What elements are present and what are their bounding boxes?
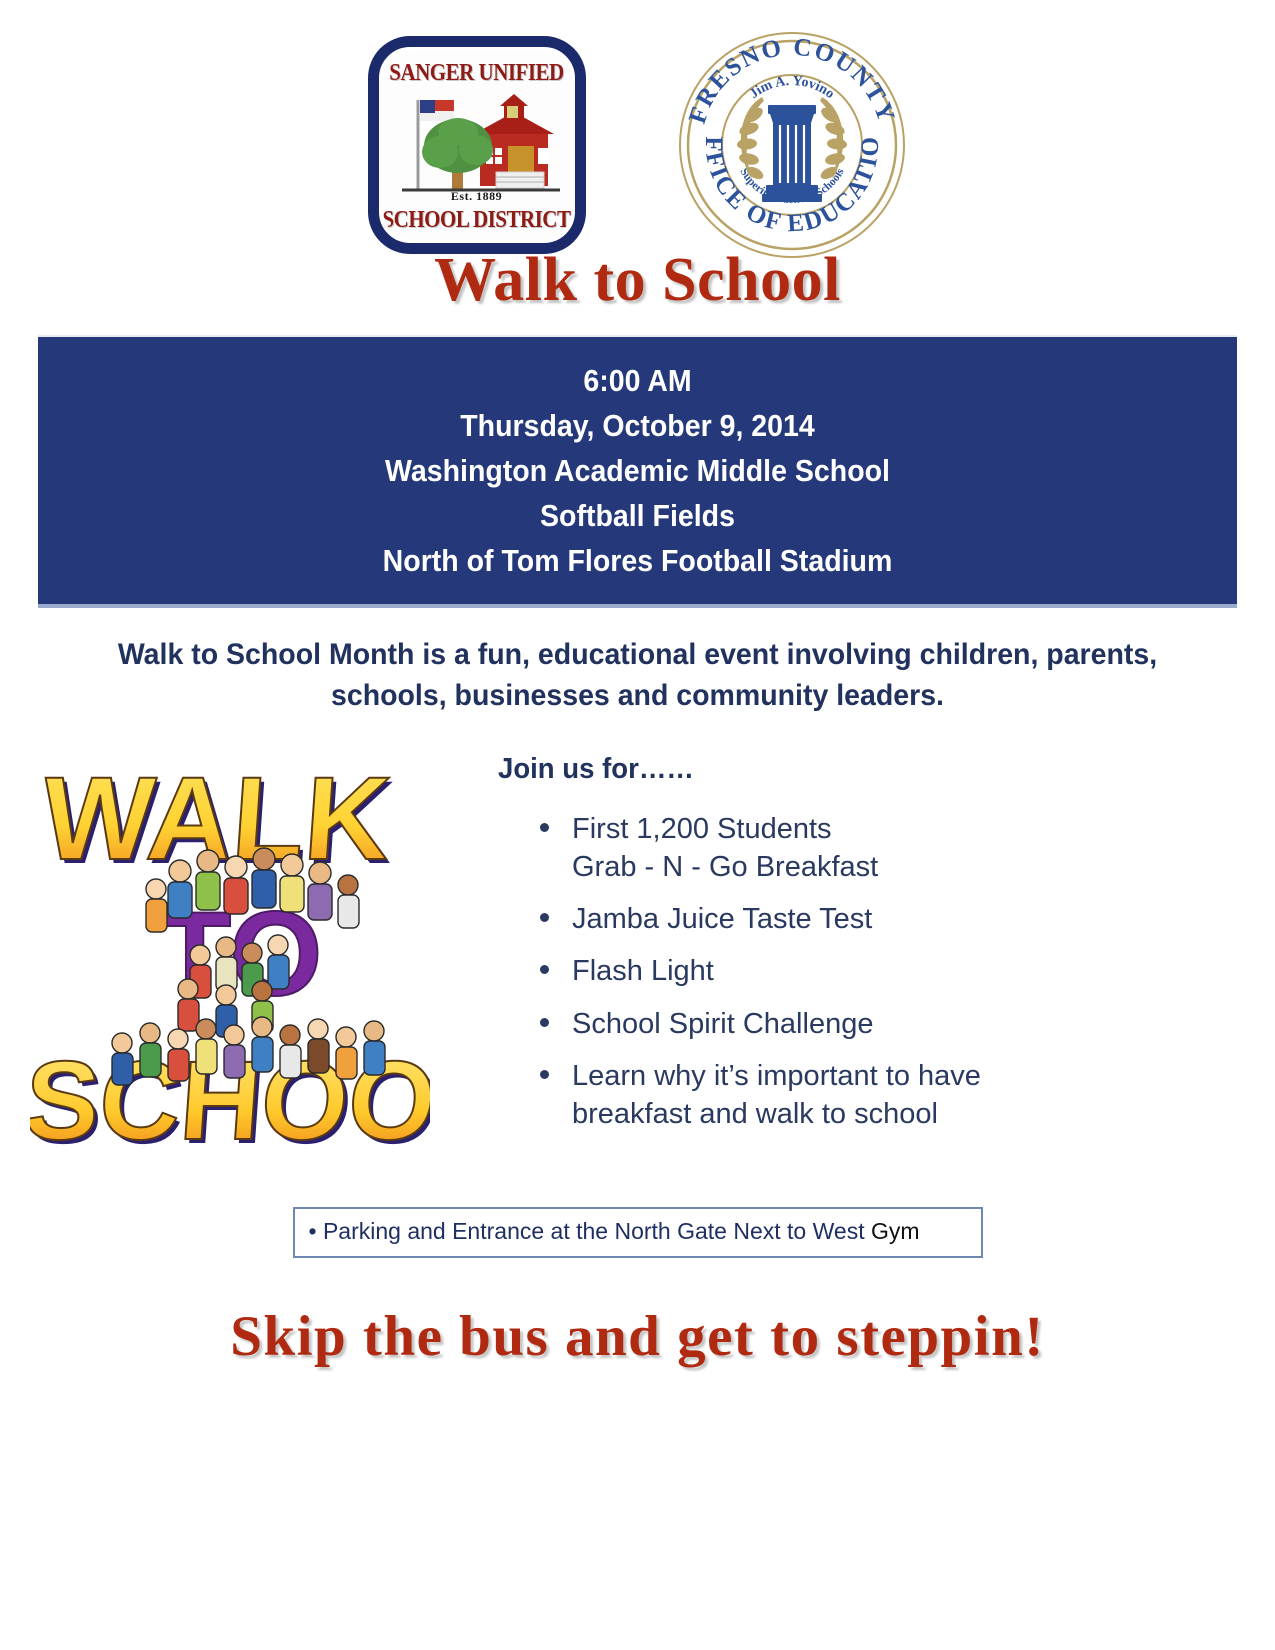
middle-section: WALK WALK TO SCHOOL SCHOOL [0, 743, 1275, 1163]
sanger-logo-inner: SANGER UNIFIED [382, 50, 572, 240]
bullet-icon [540, 913, 549, 922]
activity-sublabel: Grab - N - Go Breakfast [572, 848, 1275, 886]
list-item: Jamba Juice Taste Test [540, 900, 1275, 938]
activity-label: Learn why it’s important to have [572, 1060, 981, 1092]
activity-label: First 1,200 Students [572, 813, 832, 845]
parking-bullet-icon: • [309, 1218, 317, 1244]
bullet-icon [540, 823, 549, 832]
activities-list: First 1,200 Students Grab - N - Go Break… [470, 810, 1275, 1134]
activity-label: Flash Light [572, 955, 714, 987]
activity-sublabel: breakfast and walk to school [572, 1095, 1275, 1133]
parking-note-box: • Parking and Entrance at the North Gate… [293, 1207, 983, 1258]
event-details-box: 6:00 AM Thursday, October 9, 2014 Washin… [38, 337, 1237, 604]
bullet-icon [540, 965, 549, 974]
activity-label: Jamba Juice Taste Test [572, 903, 872, 935]
list-item: First 1,200 Students Grab - N - Go Break… [540, 810, 1275, 887]
walk-to-school-clipart: WALK WALK TO SCHOOL SCHOOL [30, 743, 430, 1163]
event-date: Thursday, October 9, 2014 [86, 404, 1189, 449]
parking-note-label: Parking and Entrance at the North Gate N… [317, 1218, 871, 1244]
parking-note-wrapper: • Parking and Entrance at the North Gate… [0, 1207, 1275, 1258]
svg-text:Jim A. Yovino: Jim A. Yovino [747, 74, 837, 102]
logo-row: SANGER UNIFIED [0, 0, 1275, 238]
list-item: School Spirit Challenge [540, 1005, 1275, 1043]
fresno-county-seal: FRESNO COUNTY OFFICE OF EDUCATION Jim A.… [676, 29, 908, 261]
activities-column: Join us for…… First 1,200 Students Grab … [460, 743, 1275, 1163]
sanger-unified-logo: SANGER UNIFIED [368, 36, 586, 254]
tagline: Skip the bus and get to steppin! [0, 1304, 1275, 1369]
parking-note-highlight: Gym [871, 1218, 920, 1244]
bullet-icon [540, 1018, 549, 1027]
clipart-column: WALK WALK TO SCHOOL SCHOOL [30, 743, 460, 1163]
fresno-seal-graphic: FRESNO COUNTY OFFICE OF EDUCATION Jim A.… [676, 29, 908, 261]
page-title: Walk to School [0, 248, 1275, 313]
event-details-panel: 6:00 AM Thursday, October 9, 2014 Washin… [38, 335, 1237, 608]
join-us-heading: Join us for…… [498, 753, 1236, 786]
list-item: Flash Light [540, 952, 1275, 990]
activity-label: School Spirit Challenge [572, 1008, 873, 1040]
bullet-icon [540, 1070, 549, 1079]
sanger-logo-top-text: SANGER UNIFIED [382, 58, 572, 87]
event-landmark: North of Tom Flores Football Stadium [86, 539, 1189, 584]
sanger-logo-bottom-text: SCHOOL DISTRICT [382, 205, 572, 234]
list-item: Learn why it’s important to have breakfa… [540, 1057, 1275, 1134]
event-time: 6:00 AM [86, 359, 1189, 404]
event-location: Washington Academic Middle School [86, 449, 1189, 494]
intro-paragraph: Walk to School Month is a fun, education… [96, 634, 1178, 717]
parking-note-text: • Parking and Entrance at the North Gate… [309, 1218, 963, 1245]
sanger-logo-established: Est. 1889 [382, 189, 572, 204]
event-venue: Softball Fields [86, 494, 1189, 539]
